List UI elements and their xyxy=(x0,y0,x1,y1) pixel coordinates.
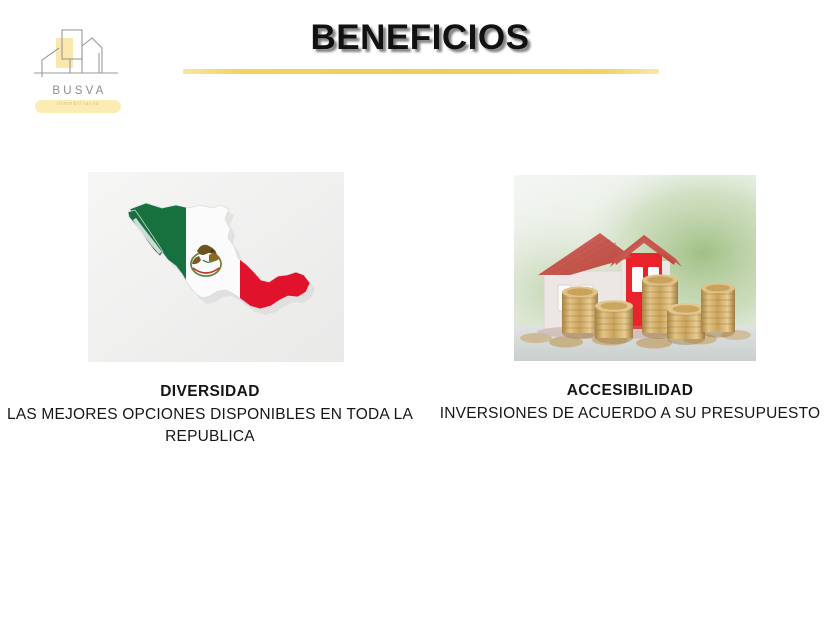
mexico-map-flag-image xyxy=(88,172,344,362)
logo-tagline: inmobiliaria xyxy=(35,101,121,107)
benefit-title: ACCESIBILIDAD xyxy=(420,381,840,402)
benefit-description: LAS MEJORES OPCIONES DISPONIBLES EN TODA… xyxy=(0,404,420,448)
logo-wordmark: BUSVA xyxy=(26,85,130,97)
title-underline-bar xyxy=(183,69,659,74)
house-and-coins-image xyxy=(514,175,756,361)
logo-tagline-pill: inmobiliaria xyxy=(35,100,121,113)
benefit-title: DIVERSIDAD xyxy=(0,382,420,403)
benefit-caption: ACCESIBILIDAD INVERSIONES DE ACUERDO A S… xyxy=(372,381,840,425)
benefit-card-diversidad: DIVERSIDAD LAS MEJORES OPCIONES DISPONIB… xyxy=(0,172,420,448)
page-title: BENEFICIOS xyxy=(0,18,840,58)
benefits-row: DIVERSIDAD LAS MEJORES OPCIONES DISPONIB… xyxy=(0,172,840,448)
benefit-description: INVERSIONES DE ACUERDO A SU PRESUPUESTO xyxy=(420,403,840,425)
benefit-card-accesibilidad: ACCESIBILIDAD INVERSIONES DE ACUERDO A S… xyxy=(420,172,840,448)
benefit-caption: DIVERSIDAD LAS MEJORES OPCIONES DISPONIB… xyxy=(0,382,426,448)
slide-root: { "slide": { "title": "BENEFICIOS", "bac… xyxy=(0,0,840,630)
